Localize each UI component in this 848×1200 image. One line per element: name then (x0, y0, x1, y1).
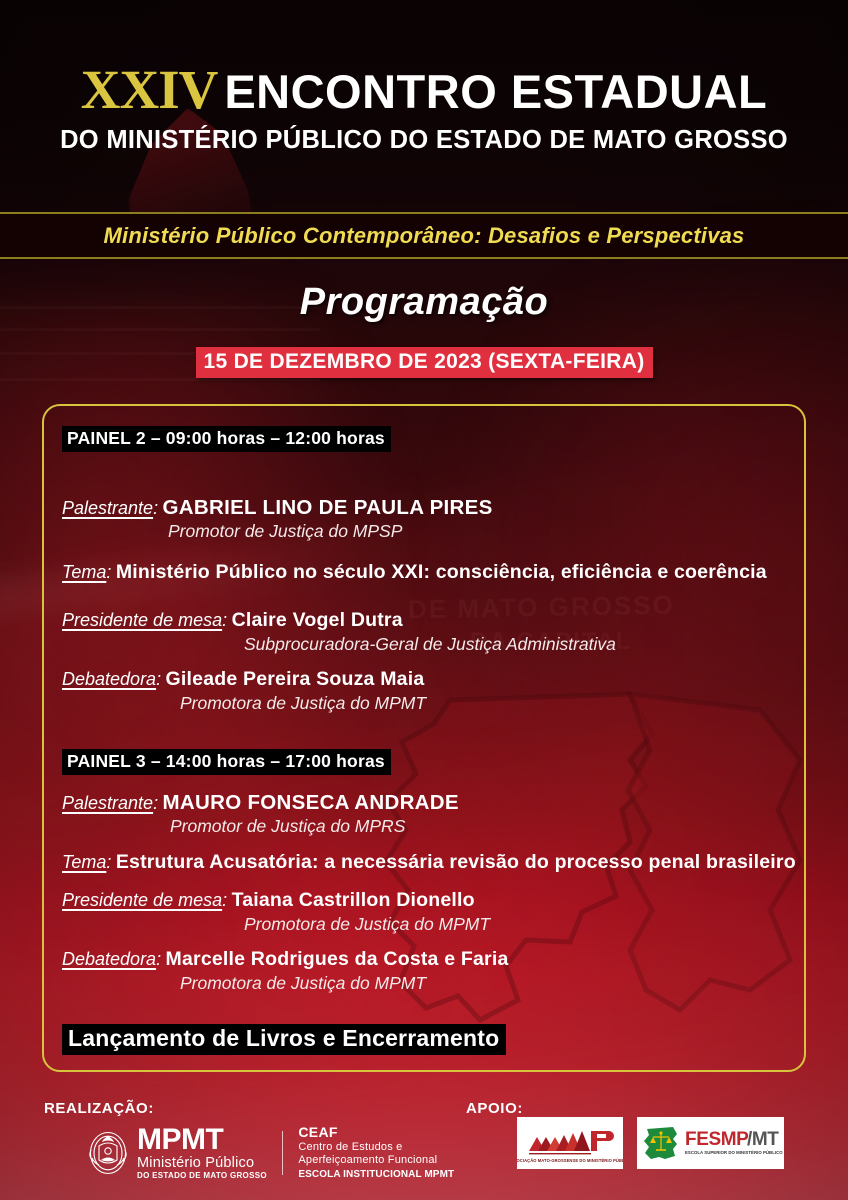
panel-2-role-debatedora: Promotora de Justiça do MPMT (180, 693, 426, 714)
panel-2-row-presidente: Presidente de mesa: Claire Vogel Dutra (62, 609, 403, 632)
mpmt-lockup: MPMT Ministério Público DO ESTADO DE MAT… (86, 1124, 454, 1181)
theme-band: Ministério Público Contemporâneo: Desafi… (0, 212, 848, 259)
mpmt-wordmark: MPMT Ministério Público DO ESTADO DE MAT… (137, 1125, 267, 1180)
panel-3-header: PAINEL 3 – 14:00 horas – 17:00 horas (62, 749, 391, 775)
panel-2-value-presidente: Claire Vogel Dutra (232, 609, 403, 631)
panel-3-role-palestrante: Promotor de Justiça do MPRS (170, 816, 405, 837)
fesmp-caption: ESCOLA SUPERIOR DO MINISTÉRIO PÚBLICO DE… (685, 1150, 784, 1155)
panel-3-row-tema: Tema: Estrutura Acusatória: a necessária… (62, 851, 796, 874)
panel-3-value-debatedora: Marcelle Rodrigues da Costa e Faria (166, 948, 509, 970)
panel-3-row-presidente: Presidente de mesa: Taiana Castrillon Di… (62, 889, 475, 912)
panel-3-role-presidente: Promotora de Justiça do MPMT (244, 914, 490, 935)
panel-3-value-presidente: Taiana Castrillon Dionello (232, 889, 475, 911)
mpmt-line3: DO ESTADO DE MATO GROSSO (137, 1172, 267, 1180)
panel-3-value-tema: Estrutura Acusatória: a necessária revis… (116, 851, 796, 873)
mpmt-crest-icon (86, 1130, 130, 1176)
panel-3-label-tema: Tema (62, 852, 106, 872)
ceaf-block: CEAF Centro de Estudos e Aperfeiçoamento… (298, 1124, 454, 1181)
panel-3-label-presidente: Presidente de mesa (62, 890, 222, 910)
ceaf-line2: Aperfeiçoamento Funcional (298, 1154, 454, 1167)
colon: : (106, 562, 111, 582)
panel-3-role-debatedora: Promotora de Justiça do MPMT (180, 973, 426, 994)
panel-2-value-debatedora: Gileade Pereira Souza Maia (166, 668, 425, 690)
ammp-logo: ASSOCIAÇÃO MATO-GROSSENSE DO MINISTÉRIO … (517, 1117, 623, 1169)
panel-2-row-tema: Tema: Ministério Público no século XXI: … (62, 561, 767, 584)
panel-3-header-wrap: PAINEL 3 – 14:00 horas – 17:00 horas (62, 749, 391, 775)
colon: : (106, 852, 111, 872)
event-subtitle: DO MINISTÉRIO PÚBLICO DO ESTADO DE MATO … (0, 126, 848, 155)
panel-2-value-palestrante: GABRIEL LINO DE PAULA PIRES (163, 496, 493, 519)
event-title-text: ENCONTRO ESTADUAL (224, 65, 767, 118)
logo-divider (282, 1131, 284, 1175)
realizacao-label: REALIZAÇÃO: (44, 1100, 154, 1117)
panel-3-value-palestrante: MAURO FONSECA ANDRADE (163, 791, 459, 814)
date-badge: 15 DE DEZEMBRO DE 2023 (SEXTA-FEIRA) (196, 347, 653, 378)
panel-3-label-debatedora: Debatedora (62, 949, 156, 969)
panel-2-role-presidente: Subprocuradora-Geral de Justiça Administ… (244, 634, 616, 655)
colon: : (153, 498, 158, 518)
fesmp-wordmark: FESMP (685, 1129, 749, 1150)
colon: : (156, 669, 161, 689)
panel-3-row-debatedora: Debatedora: Marcelle Rodrigues da Costa … (62, 948, 509, 971)
event-title: XXIVENCONTRO ESTADUAL (0, 62, 848, 117)
event-numeral: XXIV (81, 59, 218, 120)
ceaf-line1: Centro de Estudos e (298, 1141, 454, 1154)
program-panel: PAINEL 2 – 09:00 horas – 12:00 horas Pal… (42, 404, 806, 1072)
program-panel-content: PAINEL 2 – 09:00 horas – 12:00 horas Pal… (44, 406, 808, 1074)
mpmt-acronym: MPMT (137, 1125, 267, 1155)
panel-2-value-tema: Ministério Público no século XXI: consci… (116, 561, 767, 583)
date-badge-wrapper: 15 DE DEZEMBRO DE 2023 (SEXTA-FEIRA) (0, 347, 848, 378)
panel-2-label-presidente: Presidente de mesa (62, 610, 222, 630)
panel-2-header-wrap: PAINEL 2 – 09:00 horas – 12:00 horas (62, 426, 391, 452)
panel-2-row-palestrante: Palestrante: GABRIEL LINO DE PAULA PIRES (62, 496, 493, 520)
panel-2-label-debatedora: Debatedora (62, 669, 156, 689)
panel-3-label-palestrante: Palestrante (62, 793, 153, 813)
poster-canvas: DE MATO GROSSO DA CAPITAL XXIVENCONTRO E… (0, 0, 848, 1200)
panel-2-label-palestrante: Palestrante (62, 498, 153, 518)
ceaf-title: CEAF (298, 1124, 454, 1141)
poster-header: XXIVENCONTRO ESTADUAL DO MINISTÉRIO PÚBL… (0, 0, 848, 212)
panel-2-row-debatedora: Debatedora: Gileade Pereira Souza Maia (62, 668, 424, 691)
panel-2-header: PAINEL 2 – 09:00 horas – 12:00 horas (62, 426, 391, 452)
panel-2-role-palestrante: Promotor de Justiça do MPSP (168, 521, 402, 542)
apoio-label: APOIO: (466, 1100, 523, 1117)
colon: : (222, 890, 227, 910)
ceaf-school: ESCOLA INSTITUCIONAL MPMT (298, 1169, 454, 1181)
fesmp-suffix: /MT (747, 1129, 779, 1150)
mpmt-line2: Ministério Público (137, 1156, 267, 1171)
theme-band-text: Ministério Público Contemporâneo: Desafi… (103, 223, 744, 249)
colon: : (222, 610, 227, 630)
programacao-heading: Programação (0, 281, 848, 324)
fesmp-logo: FESMP /MT ESCOLA SUPERIOR DO MINISTÉRIO … (637, 1117, 784, 1169)
closing-session: Lançamento de Livros e Encerramento (62, 1024, 506, 1055)
ammp-caption: ASSOCIAÇÃO MATO-GROSSENSE DO MINISTÉRIO … (517, 1158, 623, 1163)
panel-2-label-tema: Tema (62, 562, 106, 582)
colon: : (156, 949, 161, 969)
panel-3-row-palestrante: Palestrante: MAURO FONSECA ANDRADE (62, 791, 459, 815)
colon: : (153, 793, 158, 813)
